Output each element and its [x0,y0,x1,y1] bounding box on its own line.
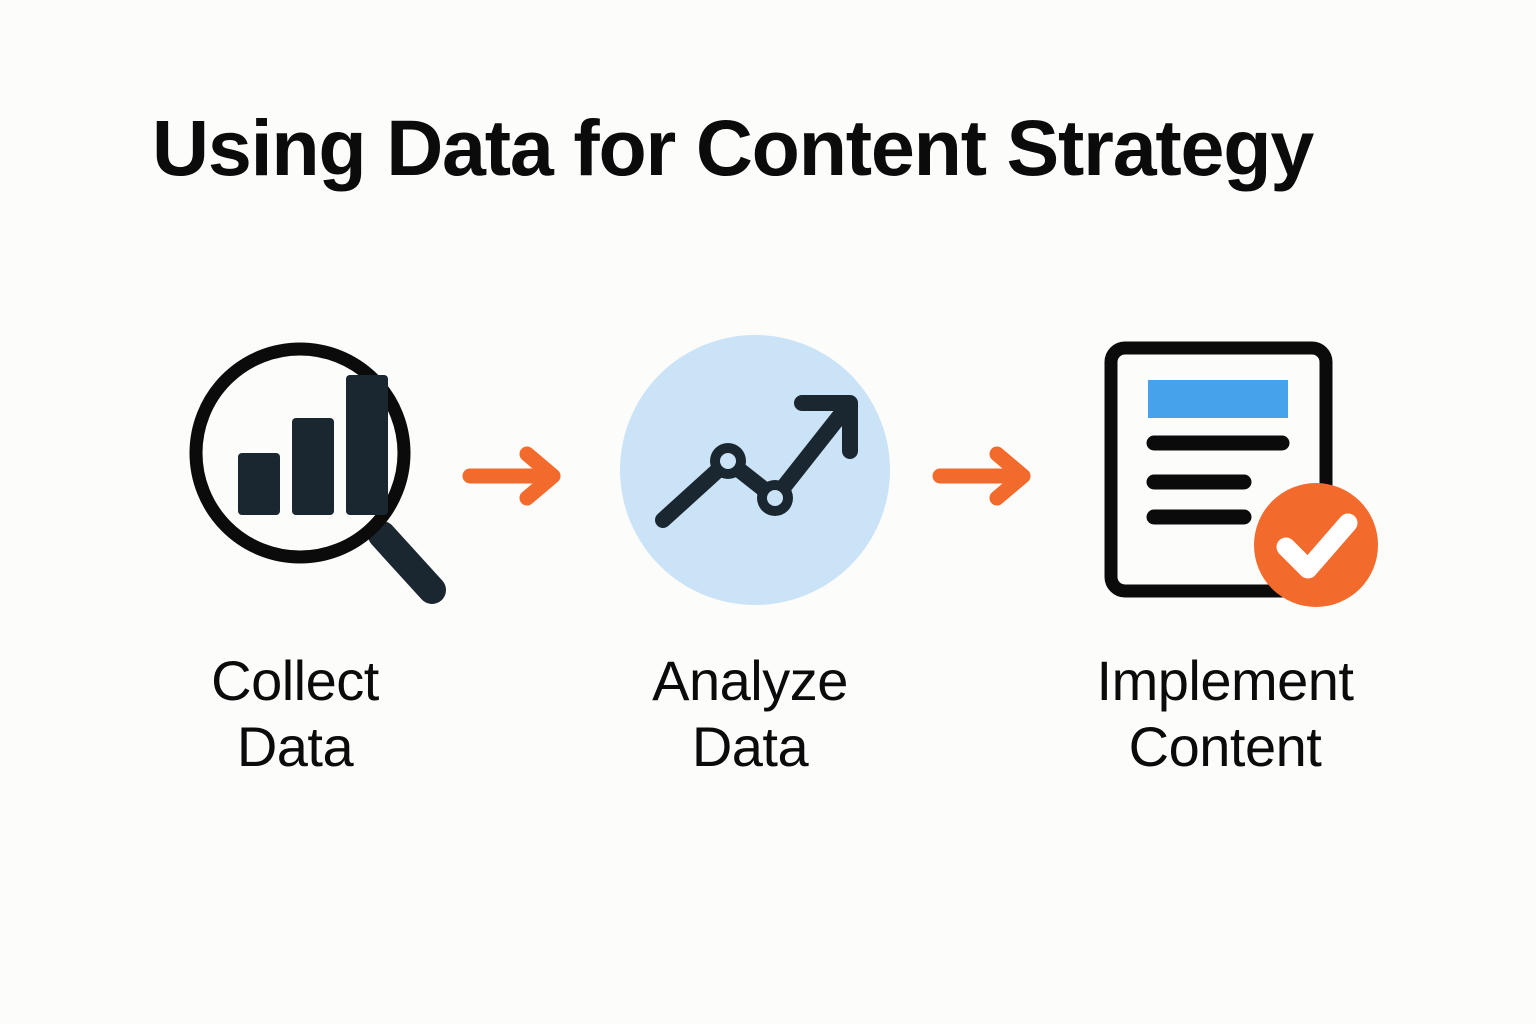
step-collect-label-line1: Collect [115,648,475,714]
check-badge-circle [1254,483,1378,607]
arrow-right-icon-1 [462,440,572,517]
trend-node-2-hole [767,490,783,506]
trend-node-1-hole [720,453,736,469]
document-header-bar [1148,380,1288,418]
process-flow: Collect Data [0,0,1536,1024]
step-analyze-label-line1: Analyze [570,648,930,714]
step-implement-label-group: Implement Content [1045,648,1405,779]
bar-2 [292,418,334,515]
step-analyze-label-line2: Data [570,714,930,780]
magnifier-handle [382,535,432,590]
step-implement-label-line1: Implement [1045,648,1405,714]
step-analyze-label-group: Analyze Data [570,648,930,779]
arrow-right-icon-2 [932,440,1042,517]
step-collect-label-line2: Data [115,714,475,780]
bar-1 [238,453,280,515]
step-implement-label-line2: Content [1045,714,1405,780]
analyze-circle-background [620,335,890,605]
step-collect-label-group: Collect Data [115,648,475,779]
diagram-canvas: Using Data for Content Strategy Collect [0,0,1536,1024]
bar-3 [346,375,388,515]
